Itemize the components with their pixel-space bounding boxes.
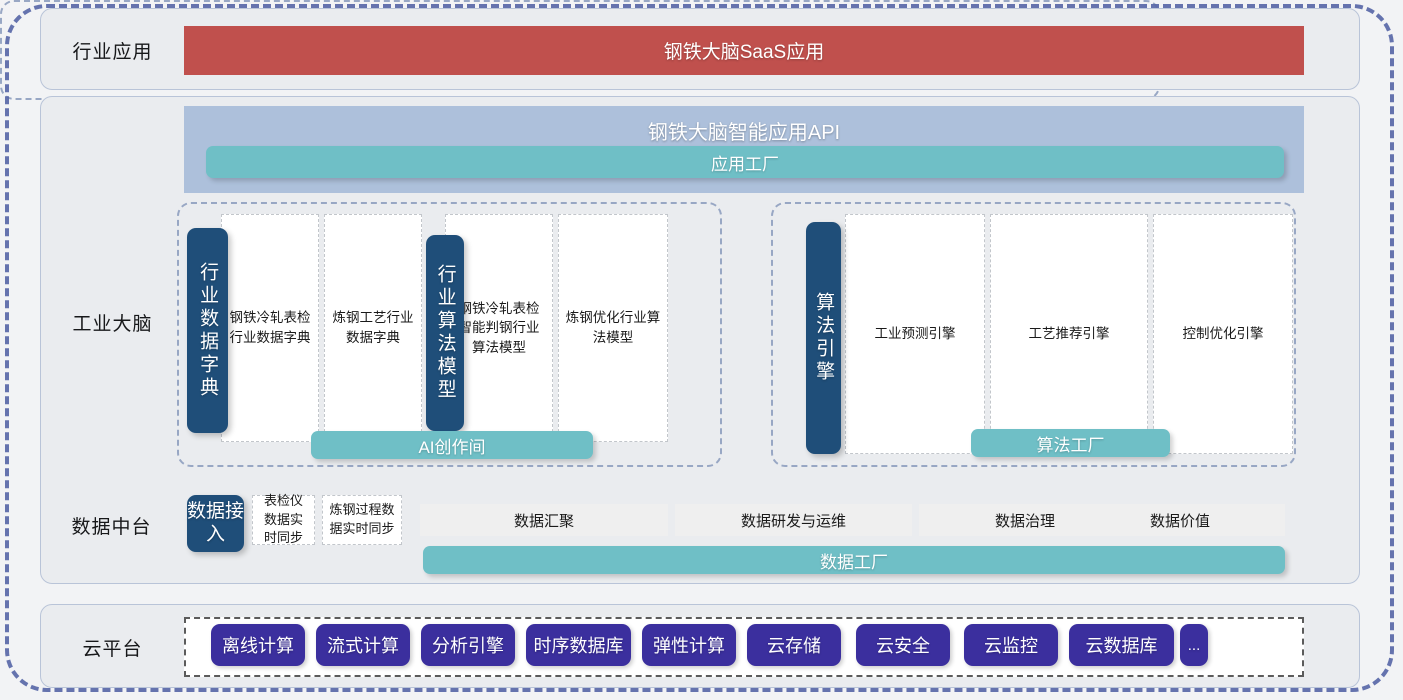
row-label-cloud-platform: 云平台 <box>41 605 184 689</box>
row-industry-application: 行业应用 钢铁大脑SaaS应用 <box>40 8 1360 90</box>
card-steelmaking-process-dictionary[interactable]: 炼钢工艺行业数据字典 <box>324 214 422 442</box>
cloud-service-timeseries-db[interactable]: 时序数据库 <box>526 624 631 666</box>
architecture-diagram: 行业应用 钢铁大脑SaaS应用 工业大脑 钢铁大脑智能应用API 应用工厂 钢铁… <box>0 0 1403 700</box>
card-process-recommendation-engine[interactable]: 工艺推荐引擎 <box>990 214 1148 454</box>
saas-application-banner[interactable]: 钢铁大脑SaaS应用 <box>184 26 1304 75</box>
cloud-service-cloud-database[interactable]: 云数据库 <box>1069 624 1174 666</box>
grey-box-data-development-ops[interactable]: 数据研发与运维 <box>675 504 912 536</box>
cloud-service-elastic-compute[interactable]: 弹性计算 <box>642 624 736 666</box>
vtab-industry-algorithm-model[interactable]: 行业算法模型 <box>426 235 464 431</box>
row-label-industry-application: 行业应用 <box>41 9 184 91</box>
row-label-data-platform: 数据中台 <box>40 495 183 555</box>
algorithm-factory-bar[interactable]: 算法工厂 <box>971 429 1170 457</box>
cloud-service-cloud-monitoring[interactable]: 云监控 <box>964 624 1058 666</box>
vtab-algorithm-engine[interactable]: 算法引擎 <box>806 222 841 454</box>
cloud-service-analytics-engine[interactable]: 分析引擎 <box>421 624 515 666</box>
vtab-industry-data-dictionary[interactable]: 行业数据字典 <box>187 228 228 433</box>
grey-box-data-aggregation[interactable]: 数据汇聚 <box>420 504 668 536</box>
grey-box-data-value[interactable]: 数据价值 <box>1075 504 1285 536</box>
brain-right-group: 工业预测引擎 工艺推荐引擎 控制优化引擎 算法引擎 算法工厂 <box>771 202 1296 467</box>
card-steelmaking-optimization-model[interactable]: 炼钢优化行业算法模型 <box>558 214 668 442</box>
cloud-service-cloud-security[interactable]: 云安全 <box>856 624 950 666</box>
cloud-service-offline-compute[interactable]: 离线计算 <box>211 624 305 666</box>
brain-left-group: 钢铁冷轧表检行业数据字典 炼钢工艺行业数据字典 钢铁冷轧表检智能判钢行业算法模型… <box>177 202 722 467</box>
card-surface-inspection-sync[interactable]: 表检仪数据实时同步 <box>252 495 315 545</box>
data-access-button[interactable]: 数据接入 <box>187 495 244 552</box>
row-label-industrial-brain: 工业大脑 <box>41 292 184 352</box>
card-industrial-prediction-engine[interactable]: 工业预测引擎 <box>845 214 985 454</box>
card-steelmaking-process-sync[interactable]: 炼钢过程数据实时同步 <box>322 495 402 545</box>
card-control-optimization-engine[interactable]: 控制优化引擎 <box>1153 214 1293 454</box>
api-title: 钢铁大脑智能应用API <box>184 116 1304 145</box>
cloud-service-stream-compute[interactable]: 流式计算 <box>316 624 410 666</box>
ai-studio-bar[interactable]: AI创作间 <box>311 431 593 459</box>
cloud-service-cloud-storage[interactable]: 云存储 <box>747 624 841 666</box>
data-factory-bar[interactable]: 数据工厂 <box>423 546 1285 574</box>
card-cold-rolling-dictionary[interactable]: 钢铁冷轧表检行业数据字典 <box>221 214 319 442</box>
cloud-service-more[interactable]: ... <box>1180 624 1208 666</box>
app-factory-bar[interactable]: 应用工厂 <box>206 146 1284 178</box>
